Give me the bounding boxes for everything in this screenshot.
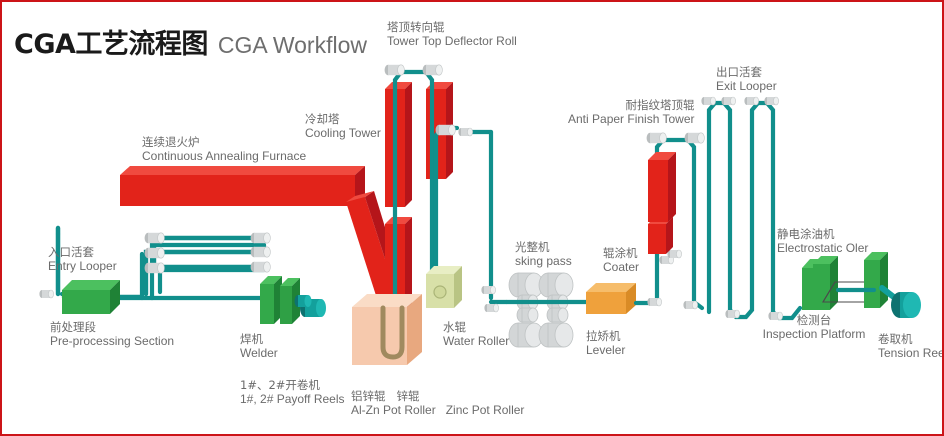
anti-paper-finish-block: [648, 152, 676, 222]
label-skin-pass: 光整机 sking pass: [515, 240, 572, 269]
inspection-platform-unit: [813, 252, 888, 310]
label-water-roller-en: Water Roller: [443, 334, 509, 349]
post-pot-strip: [491, 132, 506, 302]
label-payoff-reels-en: 1#, 2# Payoff Reels: [240, 392, 345, 407]
label-leveler-en: Leveler: [586, 343, 625, 358]
label-water-roller-cn: 水辊: [443, 320, 509, 334]
label-electrostatic-oiler-cn: 静电涂油机: [777, 227, 868, 241]
label-leveler-cn: 拉矫机: [586, 329, 625, 343]
label-anti-paper-finish-en: Anti Paper Finish Tower: [568, 112, 695, 127]
label-al-zn-pot-roller-cn: 铝锌辊: [351, 389, 386, 403]
label-anti-paper-finish: 耐指纹塔顶辊 Anti Paper Finish Tower: [568, 98, 695, 127]
label-tower-top-deflector-en: Tower Top Deflector Roll: [387, 34, 517, 49]
label-coater-cn: 辊涂机: [603, 246, 639, 260]
label-annealing-furnace-cn: 连续退火炉: [142, 135, 306, 149]
label-zinc-pot-roller-cn: 锌辊: [396, 389, 419, 403]
label-electrostatic-oiler-en: Electrostatic Oler: [777, 241, 868, 256]
workflow-diagram: CGA工艺流程图 CGA Workflow: [0, 0, 944, 436]
label-payoff-reels: 1#、2#开卷机 1#, 2# Payoff Reels: [240, 378, 345, 407]
coater-block: [648, 217, 673, 254]
welder-unit: [260, 276, 300, 324]
label-pre-processing: 前处理段 Pre-processing Section: [50, 320, 174, 349]
label-skin-pass-en: sking pass: [515, 254, 572, 269]
label-welder-en: Welder: [240, 346, 278, 361]
label-tension-reel-cn: 卷取机: [878, 332, 944, 346]
label-inspection-platform-cn: 检测台: [759, 313, 869, 327]
al-zn-pot: [352, 294, 422, 365]
label-al-zn-pot-roller-en: Al-Zn Pot Roller: [351, 403, 436, 417]
label-tension-reel-en: Tension Reel: [878, 346, 944, 361]
pre-processing-block: [62, 280, 120, 314]
skin-pass-mill: [506, 273, 590, 347]
label-pot-rollers-en: Al-Zn Pot Roller Zinc Pot Roller: [351, 403, 524, 418]
label-anti-paper-finish-cn: 耐指纹塔顶辊: [568, 98, 695, 112]
label-entry-looper: 入口活套 Entry Looper: [48, 245, 117, 274]
exit-looper-strip: [709, 103, 800, 318]
label-inspection-platform: 检测台 Inspection Platform: [759, 313, 869, 342]
label-cooling-tower-en: Cooling Tower: [305, 126, 381, 141]
label-welder-cn: 焊机: [240, 332, 278, 346]
label-annealing-furnace-en: Continuous Annealing Furnace: [142, 149, 306, 164]
label-exit-looper-cn: 出口活套: [716, 65, 777, 79]
diagram-canvas: [2, 2, 944, 436]
label-pre-processing-cn: 前处理段: [50, 320, 174, 334]
label-cooling-tower: 冷却塔 Cooling Tower: [305, 112, 381, 141]
label-zinc-pot-roller-en: Zinc Pot Roller: [446, 403, 525, 417]
label-tower-top-deflector-cn: 塔顶转向辊: [387, 20, 517, 34]
label-leveler: 拉矫机 Leveler: [586, 329, 625, 358]
label-tower-top-deflector: 塔顶转向辊 Tower Top Deflector Roll: [387, 20, 517, 49]
label-pre-processing-en: Pre-processing Section: [50, 334, 174, 349]
label-welder: 焊机 Welder: [240, 332, 278, 361]
label-pot-rollers: 铝锌辊 锌辊 Al-Zn Pot Roller Zinc Pot Roller: [351, 389, 524, 418]
leveler-block: [586, 283, 636, 314]
label-payoff-reels-cn: 1#、2#开卷机: [240, 378, 345, 392]
label-cooling-tower-cn: 冷却塔: [305, 112, 381, 126]
label-exit-looper-en: Exit Looper: [716, 79, 777, 94]
label-skin-pass-cn: 光整机: [515, 240, 572, 254]
label-electrostatic-oiler: 静电涂油机 Electrostatic Oler: [777, 227, 868, 256]
tension-reel: [882, 288, 921, 318]
label-coater: 辊涂机 Coater: [603, 246, 639, 275]
label-inspection-platform-en: Inspection Platform: [759, 327, 869, 342]
label-entry-looper-cn: 入口活套: [48, 245, 117, 259]
label-entry-looper-en: Entry Looper: [48, 259, 117, 274]
label-tension-reel: 卷取机 Tension Reel: [878, 332, 944, 361]
label-water-roller: 水辊 Water Roller: [443, 320, 509, 349]
exit-looper-rollers: [701, 97, 782, 320]
label-annealing-furnace: 连续退火炉 Continuous Annealing Furnace: [142, 135, 306, 164]
tower-bottom-unit: [426, 266, 462, 308]
label-exit-looper: 出口活套 Exit Looper: [716, 65, 777, 94]
label-pot-rollers-cn: 铝锌辊 锌辊: [351, 389, 524, 403]
label-coater-en: Coater: [603, 260, 639, 275]
